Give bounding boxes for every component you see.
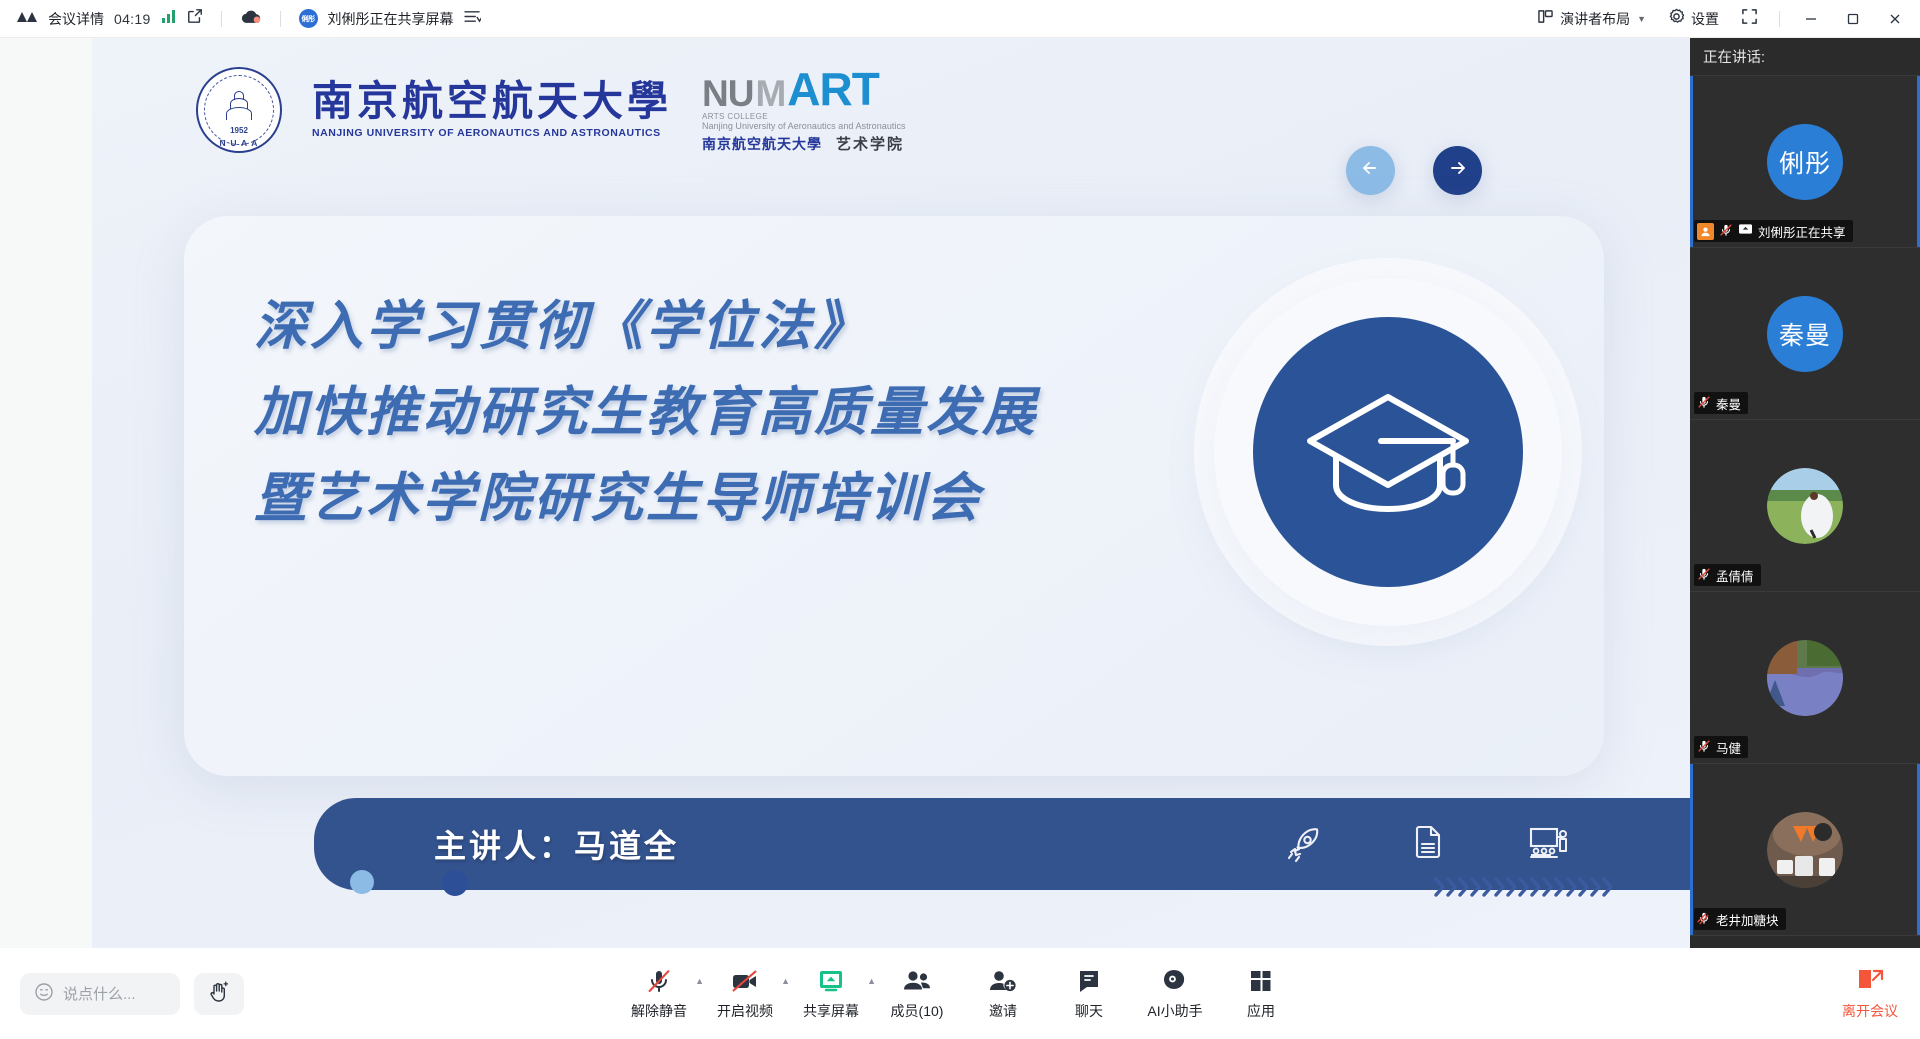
university-name-cn: 南京航空航天大學 [312, 81, 672, 122]
chat-button[interactable]: 聊天 [1046, 960, 1132, 1027]
participant-tile[interactable]: 孟倩倩 [1690, 420, 1920, 592]
participant-name: 老井加糖块 [1716, 910, 1779, 929]
chevron-down-icon: ▼ [1637, 14, 1646, 24]
arrow-left-icon [1358, 155, 1384, 186]
ai-assistant-icon [1161, 966, 1189, 996]
prev-slide-button[interactable] [1346, 146, 1395, 195]
settings-button[interactable]: 设置 [1659, 4, 1728, 34]
camera-off-icon [730, 966, 760, 996]
apps-button[interactable]: 应用 [1218, 960, 1304, 1027]
unmute-button[interactable]: 解除静音 ▲ [616, 960, 702, 1027]
slide-card: 深入学习贯彻《学位法》 加快推动研究生教育高质量发展 暨艺术学院研究生导师培训会 [184, 216, 1604, 776]
share-screen-button[interactable]: 共享屏幕 ▲ [788, 960, 874, 1027]
mic-muted-icon [1697, 911, 1711, 928]
ai-assistant-button[interactable]: AI小助手 [1132, 960, 1218, 1027]
nuaa-seal-icon: 1952 N U A A [196, 67, 282, 153]
gear-icon [1668, 8, 1685, 30]
presentation-slide: 1952 N U A A 南京航空航天大學 NANJING UNIVERSITY… [92, 38, 1690, 948]
shared-screen-stage: 1952 N U A A 南京航空航天大學 NANJING UNIVERSITY… [0, 38, 1690, 948]
slide-title-line1: 深入学习贯彻《学位法》 [254, 284, 1154, 370]
top-bar: 会议详情 04:19 俐彤 刘俐彤正在共享屏幕 [0, 0, 1920, 38]
invite-icon [989, 966, 1017, 996]
top-bar-left: 会议详情 04:19 俐彤 刘俐彤正在共享屏幕 [0, 8, 481, 29]
participant-namebar: 刘俐彤正在共享 [1694, 220, 1853, 242]
meeting-window: 会议详情 04:19 俐彤 刘俐彤正在共享屏幕 [0, 0, 1920, 1039]
avatar [1767, 468, 1843, 544]
cap-halo [1214, 278, 1562, 626]
cloud-record-icon[interactable] [240, 8, 262, 29]
arts-college-university-en: Nanjing University of Aeronautics and As… [702, 121, 906, 131]
say-something-input[interactable]: 说点什么... [20, 973, 180, 1015]
participant-tile[interactable]: 俐彤 刘俐彤正在共享 [1690, 76, 1920, 248]
rocket-icon [1278, 818, 1330, 870]
divider [221, 11, 222, 27]
slide-title-line2: 加快推动研究生教育高质量发展 [254, 370, 1154, 456]
participant-namebar: 老井加糖块 [1694, 908, 1786, 930]
arts-college-logo: NU M ART ARTS COLLEGE Nanjing University… [702, 66, 906, 154]
document-icon [1400, 818, 1452, 870]
seal-year: 1952 [198, 126, 280, 135]
divider [280, 11, 281, 27]
mountain-logo-icon [16, 10, 38, 28]
invite-label: 邀请 [989, 1001, 1017, 1021]
participant-name: 秦曼 [1716, 394, 1741, 413]
raise-hand-button[interactable] [194, 973, 244, 1015]
leave-meeting-button[interactable]: 离开会议 [1842, 966, 1898, 1021]
art-m-text: M [755, 78, 785, 110]
decor-dot-light [350, 870, 374, 894]
art-nu-text: NU [702, 78, 753, 110]
arts-university-cn: 南京航空航天大學 [702, 134, 822, 154]
speaker-layout-label: 演讲者布局 [1560, 9, 1630, 29]
sharer-avatar: 俐彤 [299, 9, 318, 28]
participant-name: 马健 [1716, 738, 1741, 757]
share-screen-label: 共享屏幕 [803, 1001, 859, 1021]
meeting-timer: 04:19 [114, 11, 151, 27]
participant-tile[interactable]: 秦曼 秦曼 [1690, 248, 1920, 420]
close-button[interactable] [1876, 4, 1914, 34]
leave-meeting-icon [1855, 966, 1885, 997]
participants-button[interactable]: 成员(10) [874, 960, 960, 1027]
university-name-en: NANJING UNIVERSITY OF AERONAUTICS AND AS… [312, 127, 672, 139]
chat-icon [1076, 966, 1102, 996]
maximize-button[interactable] [1834, 4, 1872, 34]
meeting-details-label[interactable]: 会议详情 [48, 9, 104, 29]
divider [1779, 11, 1780, 27]
participants-icon [902, 966, 932, 996]
fullscreen-icon [1741, 8, 1758, 30]
say-something-placeholder: 说点什么... [63, 983, 136, 1004]
arts-college-cn: 艺术学院 [836, 133, 904, 154]
chat-label: 聊天 [1075, 1001, 1103, 1021]
rail-header: 正在讲话: [1690, 38, 1920, 76]
art-wordmark: NU M ART [702, 70, 906, 110]
participant-tile[interactable]: 马健 [1690, 592, 1920, 764]
share-screen-icon [817, 966, 845, 996]
nuaa-wordmark: 南京航空航天大學 NANJING UNIVERSITY OF AERONAUTI… [312, 81, 672, 139]
unmute-label: 解除静音 [631, 1001, 687, 1021]
graduation-cap-icon [1303, 375, 1473, 530]
apps-label: 应用 [1247, 1001, 1275, 1021]
slide-nav [1346, 146, 1482, 195]
slide-title: 深入学习贯彻《学位法》 加快推动研究生教育高质量发展 暨艺术学院研究生导师培训会 [254, 284, 1154, 542]
mic-muted-icon [1697, 395, 1711, 412]
mic-muted-icon [645, 966, 673, 996]
art-art-text: ART [787, 70, 879, 110]
decor-dot-dark [442, 870, 468, 896]
start-video-label: 开启视频 [717, 1001, 773, 1021]
sharing-menu-icon[interactable] [464, 10, 481, 28]
top-bar-right: 演讲者布局 ▼ 设置 [1528, 4, 1920, 34]
apps-icon [1248, 966, 1274, 996]
invite-button[interactable]: 邀请 [960, 960, 1046, 1027]
participant-rail: 正在讲话: 俐彤 刘俐彤正在共享 秦曼 [1690, 38, 1920, 980]
seal-abbr: N U A A [198, 138, 280, 148]
screen-share-badge-icon [1738, 223, 1753, 239]
speaker-bar-icons [1278, 818, 1690, 870]
cap-circle [1253, 317, 1523, 587]
minimize-button[interactable] [1792, 4, 1830, 34]
classroom-icon [1522, 818, 1574, 870]
participant-namebar: 秦曼 [1694, 392, 1748, 414]
speaker-layout-button[interactable]: 演讲者布局 ▼ [1528, 5, 1655, 33]
avatar [1767, 640, 1843, 716]
raise-hand-icon [207, 979, 231, 1008]
slide-title-line3: 暨艺术学院研究生导师培训会 [254, 456, 1154, 542]
next-slide-button[interactable] [1433, 146, 1482, 195]
slide-logos: 1952 N U A A 南京航空航天大學 NANJING UNIVERSITY… [196, 66, 906, 154]
avatar: 秦曼 [1767, 296, 1843, 372]
speaker-name: 主讲人：马道全 [434, 821, 679, 867]
host-badge-icon [1697, 223, 1714, 240]
participant-name: 孟倩倩 [1716, 566, 1754, 585]
start-video-button[interactable]: 开启视频 ▲ [702, 960, 788, 1027]
participant-name: 刘俐彤正在共享 [1758, 222, 1846, 241]
settings-label: 设置 [1691, 9, 1719, 29]
participant-tile[interactable]: 老井加糖块 [1690, 764, 1920, 936]
avatar: 俐彤 [1767, 124, 1843, 200]
toolbar-tools: 解除静音 ▲ 开启视频 ▲ 共享屏幕 ▲ [616, 960, 1304, 1027]
popout-window-icon[interactable] [187, 8, 203, 29]
decor-chevrons [1432, 874, 1612, 900]
ai-assistant-label: AI小助手 [1147, 1001, 1202, 1021]
arrow-right-icon [1445, 155, 1471, 186]
mic-muted-icon [1697, 567, 1711, 584]
avatar [1767, 812, 1843, 888]
arts-college-cn-row: 南京航空航天大學 艺术学院 [702, 133, 906, 154]
participant-namebar: 马健 [1694, 736, 1748, 758]
emoji-icon [34, 982, 54, 1006]
sharing-notice: 刘俐彤正在共享屏幕 [328, 9, 454, 29]
mic-muted-icon [1719, 223, 1733, 240]
mic-muted-icon [1697, 739, 1711, 756]
participants-label: 成员(10) [891, 1001, 944, 1021]
layout-icon [1537, 9, 1554, 29]
participant-namebar: 孟倩倩 [1694, 564, 1761, 586]
fullscreen-button[interactable] [1732, 4, 1767, 34]
bottom-toolbar: 说点什么... 解除静音 ▲ 开启视频 ▲ [0, 948, 1920, 1039]
leave-meeting-label: 离开会议 [1842, 1001, 1898, 1021]
signal-bars-icon[interactable] [161, 9, 177, 29]
